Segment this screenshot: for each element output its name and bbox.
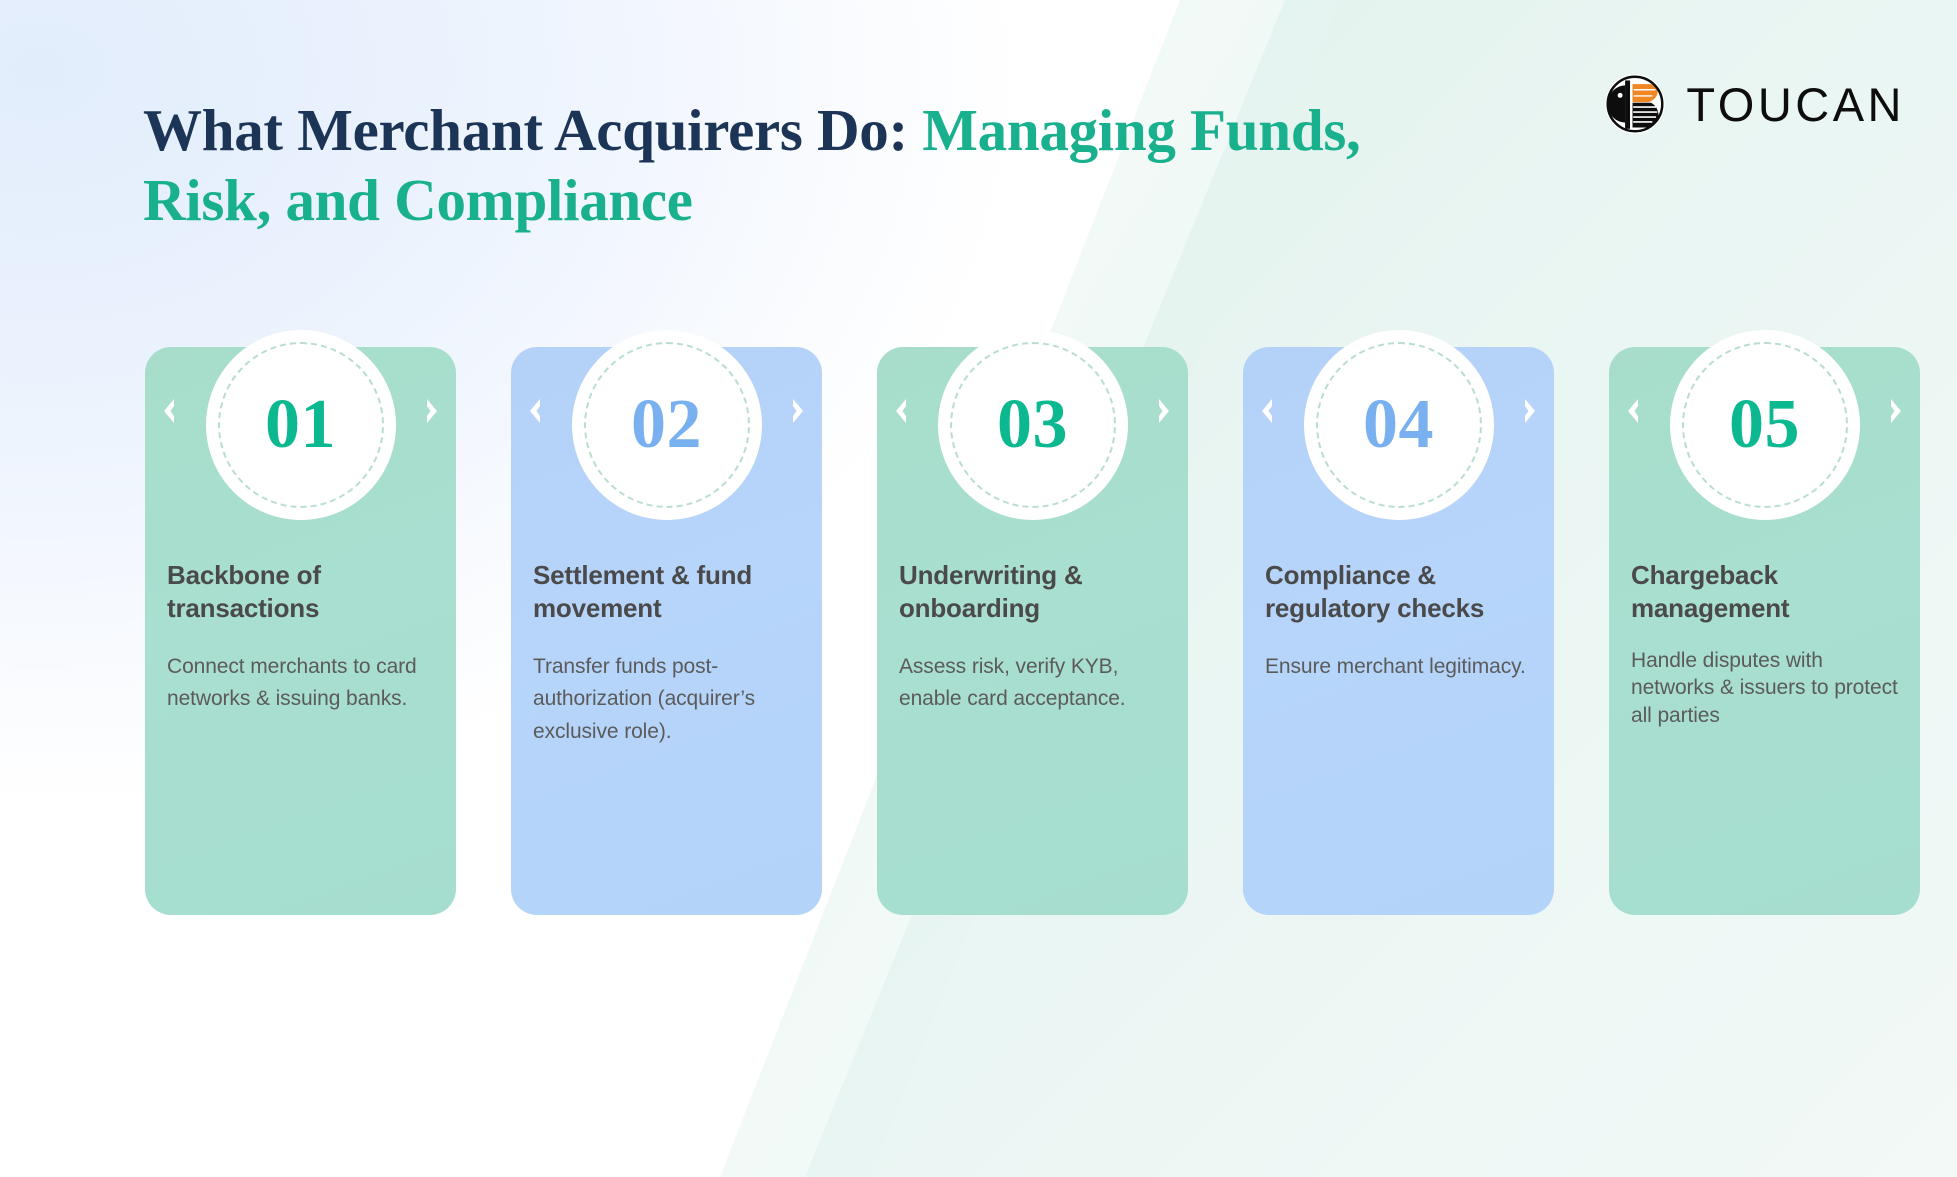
step-badge-area-03: 03 [877,321,1188,529]
step-number-05: 05 [1729,390,1800,460]
step-number-badge-05: 05 [1670,330,1860,520]
step-heading-03: Underwriting & onboarding [899,559,1172,625]
steps-card-row: 01 Backbone of transactions Connect merc… [145,347,1920,915]
chevron-right-icon[interactable] [1150,395,1176,427]
step-heading-05: Chargeback management [1631,559,1904,625]
brand-logo[interactable]: TOUCAN [1604,73,1905,135]
step-heading-04: Compliance & regulatory checks [1265,559,1538,625]
page-header: What Merchant Acquirers Do: Managing Fun… [0,0,1957,270]
step-badge-area-05: 05 [1609,321,1920,529]
chevron-right-icon[interactable] [1882,395,1908,427]
chevron-right-icon[interactable] [1516,395,1542,427]
chevron-left-icon[interactable] [523,395,549,427]
step-card-05[interactable]: 05 Chargeback management Handle disputes… [1609,347,1920,915]
step-content-05: Chargeback management Handle disputes wi… [1631,559,1904,730]
step-heading-01: Backbone of transactions [167,559,440,625]
step-number-04: 04 [1363,390,1434,460]
step-number-badge-02: 02 [572,330,762,520]
step-card-02[interactable]: 02 Settlement & fund movement Transfer f… [511,347,822,915]
chevron-left-icon[interactable] [157,395,183,427]
chevron-left-icon[interactable] [1255,395,1281,427]
chevron-left-icon[interactable] [1621,395,1647,427]
step-number-badge-01: 01 [206,330,396,520]
step-badge-area-02: 02 [511,321,822,529]
chevron-right-icon[interactable] [418,395,444,427]
page-title-part-primary: What Merchant Acquirers Do: [143,97,922,163]
step-number-02: 02 [631,390,702,460]
step-number-badge-03: 03 [938,330,1128,520]
step-content-02: Settlement & fund movement Transfer fund… [533,559,806,748]
brand-wordmark: TOUCAN [1686,81,1905,128]
chevron-left-icon[interactable] [889,395,915,427]
step-description-02: Transfer funds post-authorization (acqui… [533,651,806,749]
chevron-right-icon[interactable] [784,395,810,427]
step-card-01[interactable]: 01 Backbone of transactions Connect merc… [145,347,456,915]
step-badge-area-01: 01 [145,321,456,529]
step-heading-02: Settlement & fund movement [533,559,806,625]
page-title: What Merchant Acquirers Do: Managing Fun… [143,96,1393,235]
step-content-01: Backbone of transactions Connect merchan… [167,559,440,716]
step-card-04[interactable]: 04 Compliance & regulatory checks Ensure… [1243,347,1554,915]
step-description-04: Ensure merchant legitimacy. [1265,651,1538,684]
toucan-bird-icon [1604,73,1666,135]
step-number-03: 03 [997,390,1068,460]
step-number-badge-04: 04 [1304,330,1494,520]
step-card-03[interactable]: 03 Underwriting & onboarding Assess risk… [877,347,1188,915]
step-description-05: Handle disputes with networks & issuers … [1631,647,1904,730]
step-description-03: Assess risk, verify KYB, enable card acc… [899,651,1172,716]
step-description-01: Connect merchants to card networks & iss… [167,651,440,716]
step-content-04: Compliance & regulatory checks Ensure me… [1265,559,1538,683]
step-content-03: Underwriting & onboarding Assess risk, v… [899,559,1172,716]
step-number-01: 01 [265,390,336,460]
step-badge-area-04: 04 [1243,321,1554,529]
